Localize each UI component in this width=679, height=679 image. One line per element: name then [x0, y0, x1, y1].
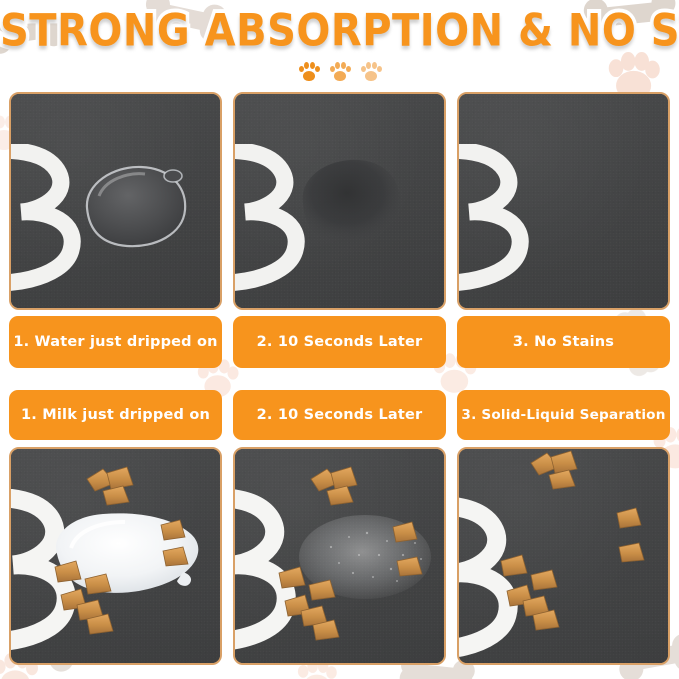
kibble-pieces: [11, 449, 222, 665]
water-droplet-fresh: [69, 152, 199, 262]
label-water-step-1-text: 1. Water just dripped on: [13, 334, 217, 350]
product-infographic: STRONG ABSORPTION & NO STAINS: [0, 0, 679, 679]
label-milk-step-3: 3. Solid-Liquid Separation: [457, 390, 670, 440]
label-milk-step-1-text: 1. Milk just dripped on: [21, 407, 210, 423]
photo-water-step-3: [457, 92, 670, 310]
label-milk-step-2-text: 2. 10 Seconds Later: [257, 407, 423, 423]
label-milk-step-1: 1. Milk just dripped on: [9, 390, 222, 440]
comparison-grid: 1. Water just dripped on: [0, 0, 679, 679]
page-title-container: STRONG ABSORPTION & NO STAINS: [0, 8, 679, 60]
photo-water-step-2: [233, 92, 446, 310]
mat-logo-b: [457, 144, 535, 284]
label-water-step-3: 3. No Stains: [457, 316, 670, 368]
label-water-step-3-text: 3. No Stains: [513, 334, 614, 350]
label-water-step-2-text: 2. 10 Seconds Later: [257, 334, 423, 350]
kibble-pieces: [459, 449, 670, 665]
photo-milk-step-2: [233, 447, 446, 665]
label-milk-step-2: 2. 10 Seconds Later: [233, 390, 446, 440]
photo-milk-step-3: [457, 447, 670, 665]
label-water-step-1: 1. Water just dripped on: [9, 316, 222, 368]
label-water-step-2: 2. 10 Seconds Later: [233, 316, 446, 368]
kibble-pieces: [235, 449, 446, 665]
paw-divider: [0, 62, 679, 82]
paw-print-icon-1: [298, 62, 320, 82]
label-milk-step-3-text: 3. Solid-Liquid Separation: [461, 407, 665, 423]
logo-b-svg: [457, 144, 540, 294]
paw-print-icon-2: [329, 62, 351, 82]
photo-water-step-1: [9, 92, 222, 310]
page-title: STRONG ABSORPTION & NO STAINS: [0, 5, 679, 57]
paw-print-icon-3: [360, 62, 382, 82]
photo-milk-step-1: [9, 447, 222, 665]
water-absorbing-patch: [287, 146, 417, 258]
